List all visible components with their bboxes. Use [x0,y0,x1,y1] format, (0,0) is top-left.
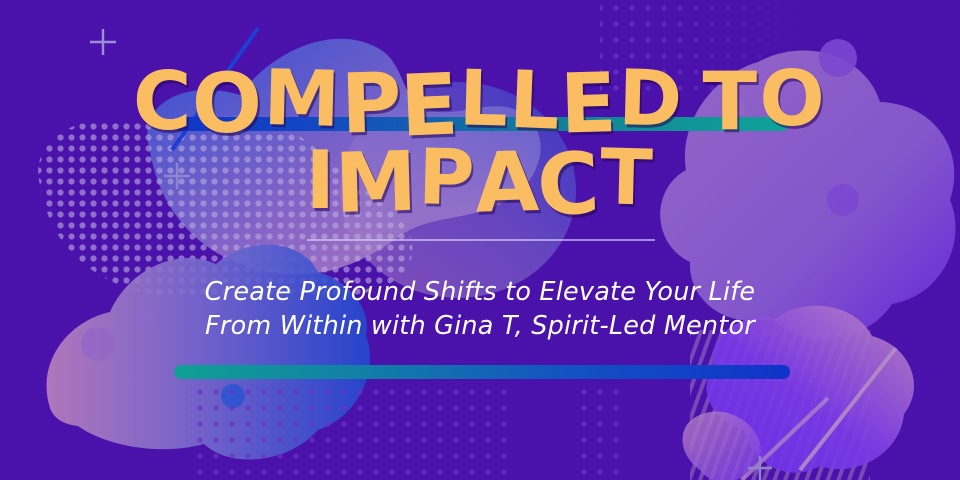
plus-top-left [90,29,116,55]
dot-grid-bottom-left-2 [186,388,506,480]
bottom-accent-bar [174,365,790,379]
headline-line-2: IMPACT [0,143,960,220]
headline-line-1: COMPELLED TO [0,64,960,141]
subtitle-line-1: Create Profound Shifts to Elevate Your L… [0,276,960,310]
promo-banner: COMPELLED TO IMPACT Create Profound Shif… [0,0,960,480]
subtitle-line-2: From Within with Gina T, Spirit-Led Ment… [0,310,960,344]
plus-bottom-right [748,456,772,480]
subtitle-group: Create Profound Shifts to Elevate Your L… [0,276,960,344]
diagonal-stripes-bottom-right [690,330,870,480]
diagonal-line-bottom-right-1 [800,348,896,470]
dot-grid-bottom-left [180,380,620,480]
diagonal-line-bottom-right-2 [742,398,828,480]
headline-group: COMPELLED TO IMPACT [0,64,960,220]
title-underline-rule [307,239,655,241]
